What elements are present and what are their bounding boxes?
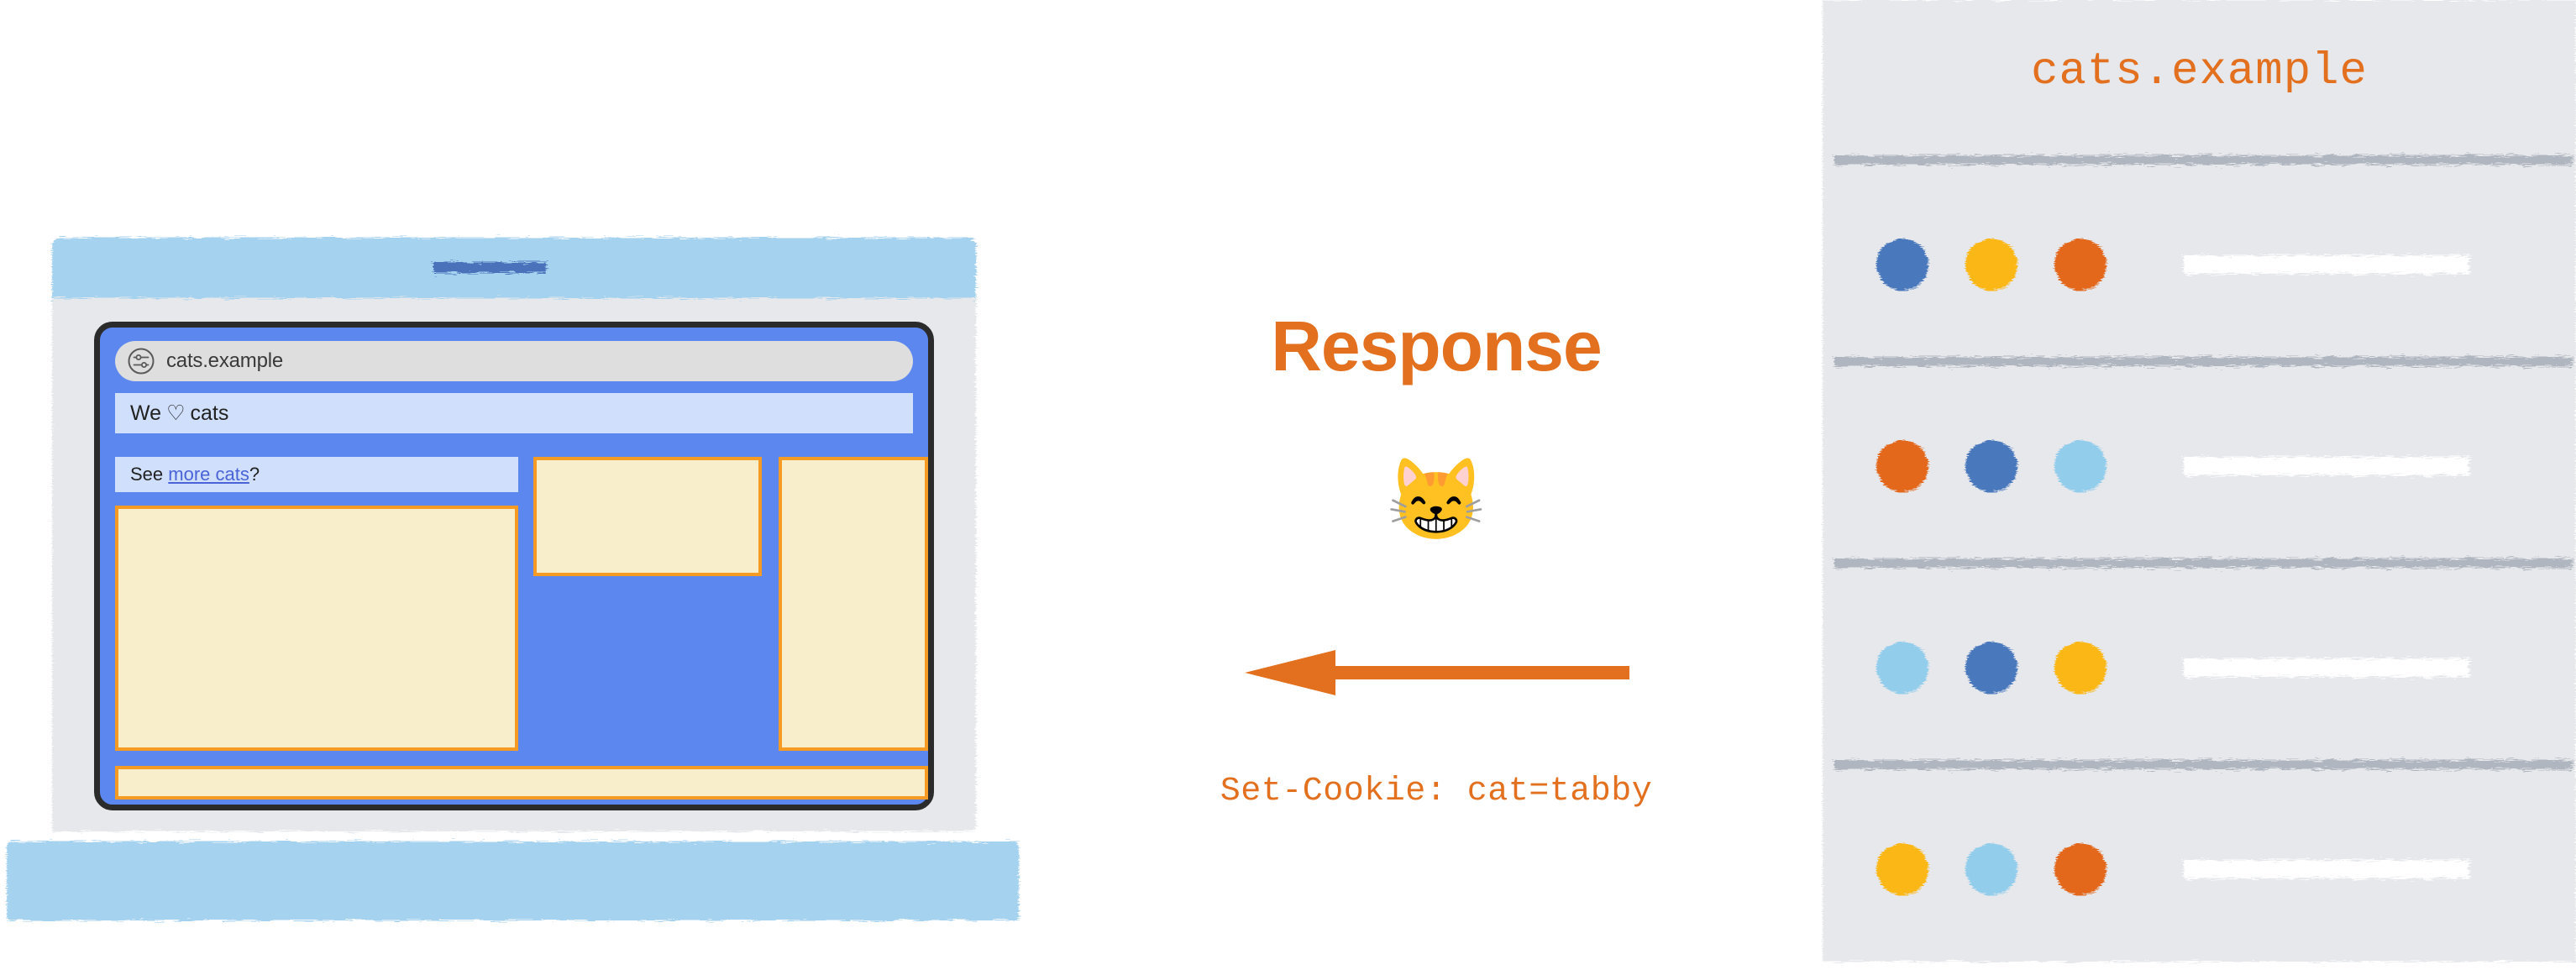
server-dot: [2054, 239, 2106, 291]
link-suffix: ?: [249, 464, 260, 485]
server-row-0[interactable]: [1823, 210, 2576, 319]
cookie-settings-icon[interactable]: [127, 347, 155, 375]
server-row-text-placeholder: [2184, 860, 2469, 878]
more-cats-link-band: See more cats ?: [115, 457, 518, 492]
server-dot: [1876, 843, 1928, 895]
server-dot: [2054, 440, 2106, 492]
server-row-text-placeholder: [2184, 457, 2469, 475]
server-dot: [1876, 440, 1928, 492]
heart-icon: ♡: [166, 401, 185, 426]
page-content-area: See more cats ?: [115, 457, 913, 766]
server-divider-0: [1834, 155, 2573, 165]
page-heading-suffix: cats: [190, 401, 228, 426]
server-dot: [1965, 440, 2017, 492]
server-divider-2: [1834, 558, 2573, 568]
server-dot: [1876, 239, 1928, 291]
right-sidebar-content-block: [779, 457, 928, 751]
footer-content-block: [115, 766, 928, 800]
more-cats-link[interactable]: more cats: [168, 464, 249, 485]
server-panel-content: cats.example: [1823, 0, 2576, 962]
server-dot: [1876, 642, 1928, 694]
server-dot: [2054, 843, 2106, 895]
main-content-block: [115, 506, 518, 751]
browser-window: cats.example We ♡ cats See more cats ?: [94, 322, 934, 810]
server-row-3[interactable]: [1823, 815, 2576, 924]
server-row-text-placeholder: [2184, 658, 2469, 677]
server-row-1[interactable]: [1823, 412, 2576, 521]
server-dot: [1965, 239, 2017, 291]
server-dot: [1965, 843, 2017, 895]
server-divider-1: [1834, 357, 2573, 366]
response-title: Response: [1058, 311, 1814, 381]
response-column: Response 😸 Set-Cookie: cat=tabby: [1058, 0, 1814, 970]
top-middle-content-block: [533, 457, 762, 576]
server-row-2[interactable]: [1823, 613, 2576, 722]
address-bar-url: cats.example: [166, 349, 283, 373]
grinning-cat-with-smiling-eyes-icon: 😸: [1058, 460, 1814, 541]
laptop-base: [7, 842, 1019, 920]
set-cookie-header-text: Set-Cookie: cat=tabby: [1058, 773, 1814, 810]
server-divider-3: [1834, 760, 2573, 769]
server-row-text-placeholder: [2184, 255, 2469, 274]
response-arrow-left-icon: [1058, 638, 1814, 705]
server-title: cats.example: [1823, 46, 2576, 97]
laptop-scene: cats.example We ♡ cats See more cats ?: [0, 0, 1058, 970]
browser-address-bar[interactable]: cats.example: [115, 341, 913, 381]
server-dot: [1965, 642, 2017, 694]
link-prefix: See: [130, 464, 163, 485]
page-heading-prefix: We: [130, 401, 161, 426]
page-heading: We ♡ cats: [115, 393, 913, 433]
server-dot: [2054, 642, 2106, 694]
laptop-camera-notch: [433, 262, 546, 273]
